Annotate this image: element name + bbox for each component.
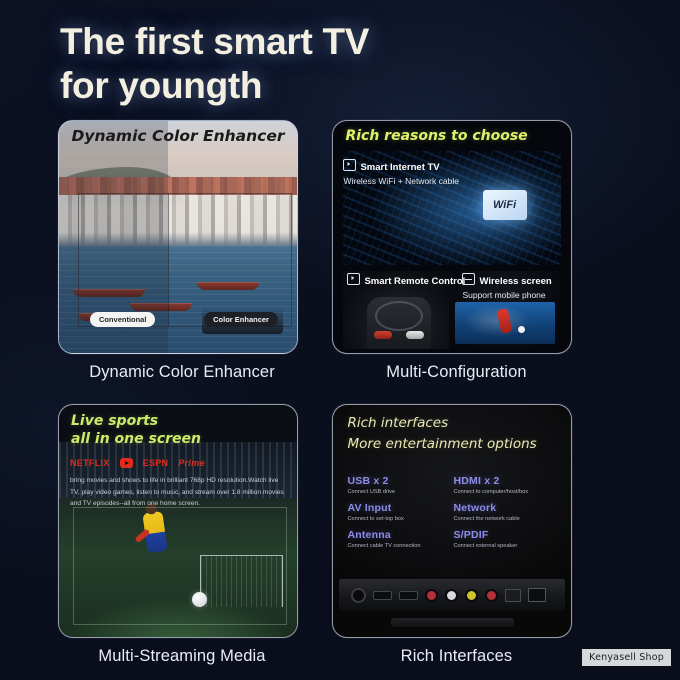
port-desc: Connect external speaker: [453, 543, 559, 549]
caption-rich-interfaces: Rich Interfaces: [332, 647, 580, 666]
netflix-logo: NETFLIX: [70, 458, 110, 468]
panel-body-text: bring movies and shows to life in brilli…: [70, 475, 286, 510]
panel-rich-interfaces[interactable]: Rich interfaces More entertainment optio…: [332, 404, 572, 638]
rca-red2-port-icon: [485, 589, 498, 602]
port-title: S/PDIF: [453, 529, 559, 541]
label-conventional: Conventional: [90, 312, 156, 327]
port-title: HDMI x 2: [453, 475, 559, 487]
feature-subtitle: Wireless WiFi + Network cable: [343, 176, 458, 186]
port-item-network: Network Connect the network cable: [453, 502, 559, 522]
streaming-logos: NETFLIX ESPN Prime: [70, 458, 205, 468]
monitor-icon: [462, 273, 475, 285]
feature-title: Smart Internet TV: [360, 162, 439, 173]
youtube-icon: [120, 458, 133, 468]
remote-tv-icon: [347, 273, 360, 285]
feature-cell-streaming: Live sports all in one screen NETFLIX ES…: [58, 404, 306, 666]
label-wireless-screen: Wireless screen Support mobile phone: [462, 273, 551, 300]
comparison-divider: [168, 193, 169, 328]
port-item-usb: USB x 2 Connect USB drive: [347, 475, 453, 495]
tv-screen-frame: [73, 507, 287, 625]
feature-cell-color-enhancer: Dynamic Color Enhancer Conventional Colo…: [58, 120, 306, 382]
remote-control-image: [367, 297, 431, 349]
feature-title-row: Smart Remote Control: [347, 273, 465, 287]
coax-port-icon: [351, 588, 366, 603]
rear-port-strip: [339, 579, 565, 611]
feature-cell-interfaces: Rich interfaces More entertainment optio…: [332, 404, 580, 666]
page-title: The first smart TV for youngth: [60, 20, 580, 107]
port-title: Antenna: [347, 529, 453, 541]
feature-smart-internet-tv: Smart Internet TV Wireless WiFi + Networ…: [343, 159, 458, 186]
remote-red-button: [374, 331, 392, 339]
port-title: USB x 2: [347, 475, 453, 487]
tv-base: [391, 618, 515, 627]
caption-multi-streaming: Multi-Streaming Media: [58, 647, 306, 666]
port-row: Antenna Connect cable TV connection S/PD…: [347, 529, 559, 549]
port-desc: Connect cable TV connection: [347, 543, 453, 549]
prime-logo: Prime: [178, 458, 205, 468]
feature-grid: Dynamic Color Enhancer Conventional Colo…: [58, 120, 624, 666]
port-title: Network: [453, 502, 559, 514]
hdmi-port-icon: [373, 591, 392, 600]
remote-white-button: [406, 331, 424, 339]
panel-heading: Dynamic Color Enhancer: [59, 127, 297, 145]
usb-port-icon: [528, 588, 546, 602]
port-item-hdmi: HDMI x 2 Connect to computer/host/box: [453, 475, 559, 495]
soccer-player: [497, 308, 513, 334]
feature-title: Wireless screen: [479, 276, 551, 287]
wireless-screen-thumbnail: [455, 302, 555, 344]
feature-subtitle: Support mobile phone: [462, 290, 551, 300]
panel-heading: Rich reasons to choose: [345, 128, 527, 144]
internet-tv-icon: [343, 159, 356, 171]
port-item-av: AV Input Connect to set-top box: [347, 502, 453, 522]
port-desc: Connect to set-top box: [347, 516, 453, 522]
port-desc: Connect to computer/host/box: [453, 489, 559, 495]
port-item-antenna: Antenna Connect cable TV connection: [347, 529, 453, 549]
panel-multi-streaming[interactable]: Live sports all in one screen NETFLIX ES…: [58, 404, 298, 638]
feature-title-row: Wireless screen: [462, 273, 551, 287]
panel-multi-configuration[interactable]: Rich reasons to choose WiFi Smart Intern…: [332, 120, 572, 354]
ethernet-port-icon: [505, 589, 521, 602]
soccer-ball: [518, 326, 525, 333]
port-desc: Connect the network cable: [453, 516, 559, 522]
wifi-chip-icon: WiFi: [483, 190, 527, 220]
port-list: USB x 2 Connect USB drive HDMI x 2 Conne…: [347, 475, 559, 556]
watermark-badge: Kenyasell Shop: [582, 649, 671, 666]
port-item-spdif: S/PDIF Connect external speaker: [453, 529, 559, 549]
remote-dpad: [375, 301, 423, 331]
promo-page: The first smart TV for youngth Dynamic C…: [0, 0, 680, 680]
panel-heading: Rich interfaces More entertainment optio…: [347, 413, 536, 455]
feature-title-row: Smart Internet TV: [343, 159, 458, 173]
feature-title: Smart Remote Control: [364, 276, 465, 287]
hdmi-port-icon: [399, 591, 418, 600]
caption-multi-configuration: Multi-Configuration: [332, 363, 580, 382]
panel-color-enhancer[interactable]: Dynamic Color Enhancer Conventional Colo…: [58, 120, 298, 354]
rca-red-port-icon: [425, 589, 438, 602]
port-desc: Connect USB drive: [347, 489, 453, 495]
feature-cell-multi-config: Rich reasons to choose WiFi Smart Intern…: [332, 120, 580, 382]
label-smart-remote: Smart Remote Control: [347, 273, 465, 287]
espn-logo: ESPN: [143, 458, 169, 468]
port-row: USB x 2 Connect USB drive HDMI x 2 Conne…: [347, 475, 559, 495]
panel-heading: Live sports all in one screen: [71, 413, 201, 448]
port-title: AV Input: [347, 502, 453, 514]
caption-color-enhancer: Dynamic Color Enhancer: [58, 363, 306, 382]
rca-yellow-port-icon: [465, 589, 478, 602]
rca-white-port-icon: [445, 589, 458, 602]
port-row: AV Input Connect to set-top box Network …: [347, 502, 559, 522]
label-color-enhancer: Color Enhancer: [204, 312, 278, 327]
